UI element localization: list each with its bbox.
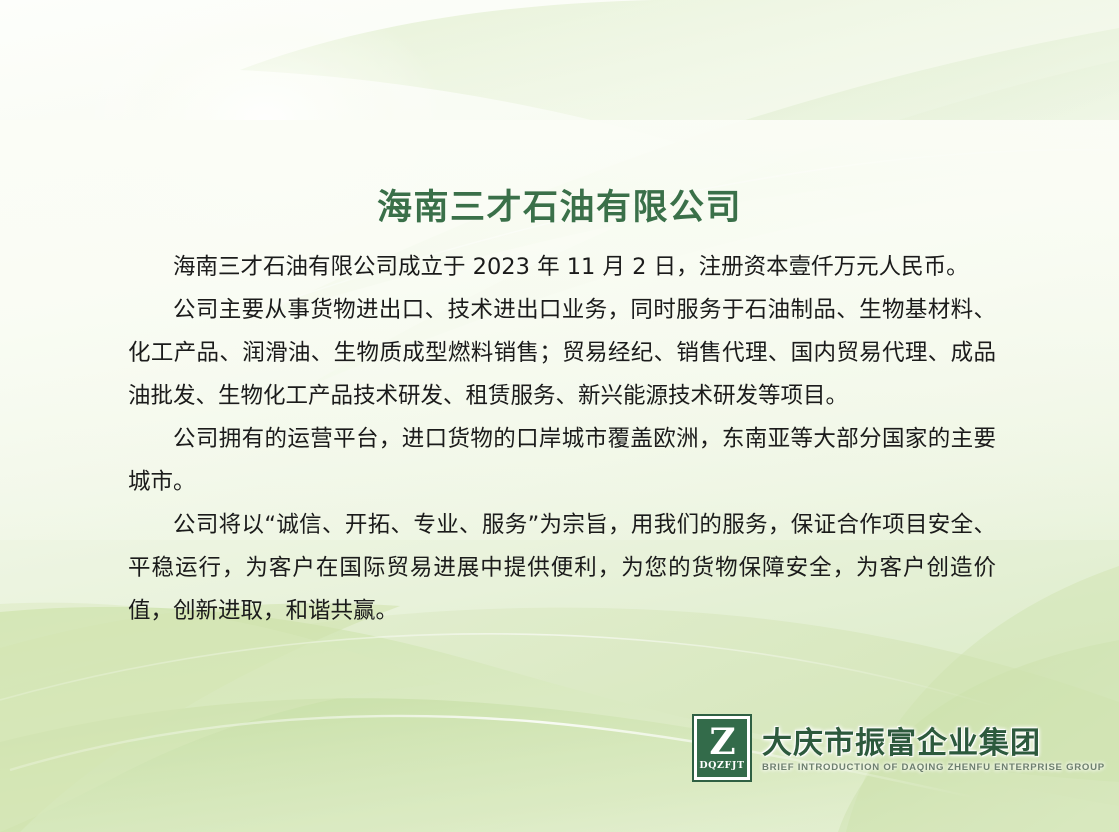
footer-logo: Z DQZFJT 大庆市振富企业集团 BRIEF INTRODUCTION OF… (692, 714, 1105, 782)
logo-abbreviation: DQZFJT (699, 760, 744, 771)
group-name-en: BRIEF INTRODUCTION OF DAQING ZHENFU ENTE… (762, 762, 1105, 773)
slide-canvas: 海南三才石油有限公司 海南三才石油有限公司成立于 2023 年 11 月 2 日… (0, 0, 1119, 832)
paragraph: 公司拥有的运营平台，进口货物的口岸城市覆盖欧洲，东南亚等大部分国家的主要城市。 (128, 418, 996, 504)
logo-letter-z: Z (709, 727, 734, 759)
group-name-cn: 大庆市振富企业集团 (762, 728, 1105, 759)
paragraph: 公司将以“诚信、开拓、专业、服务”为宗旨，用我们的服务，保证合作项目安全、平稳运… (128, 504, 996, 633)
body-text-block: 海南三才石油有限公司成立于 2023 年 11 月 2 日，注册资本壹仟万元人民… (128, 246, 996, 633)
paragraph: 公司主要从事货物进出口、技术进出口业务，同时服务于石油制品、生物基材料、化工产品… (128, 289, 996, 418)
page-title: 海南三才石油有限公司 (0, 179, 1119, 230)
footer-logo-text: 大庆市振富企业集团 BRIEF INTRODUCTION OF DAQING Z… (762, 714, 1105, 773)
company-logo-icon: Z DQZFJT (692, 714, 752, 782)
paragraph: 海南三才石油有限公司成立于 2023 年 11 月 2 日，注册资本壹仟万元人民… (128, 246, 996, 289)
